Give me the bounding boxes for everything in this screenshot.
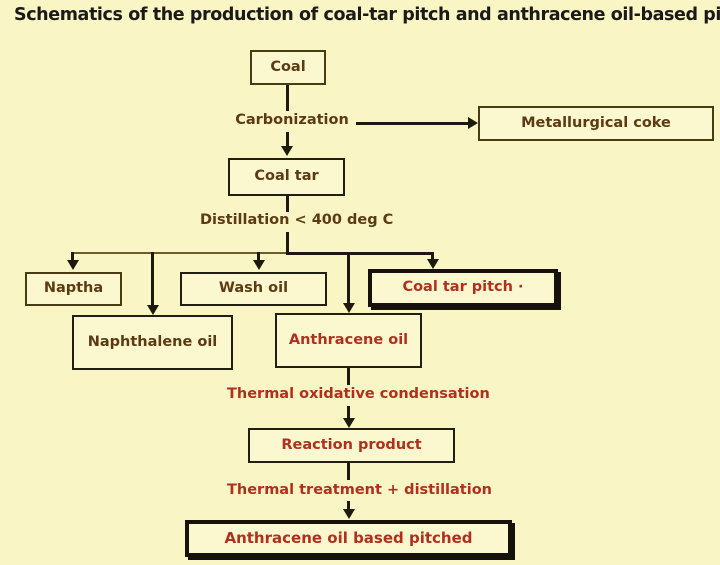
node-coal-tar-pitch-label: Coal tar pitch ·	[402, 280, 523, 296]
node-coal-tar-pitch: Coal tar pitch ·	[368, 269, 558, 307]
connector-distillation-to-bus	[286, 232, 289, 254]
node-naptha-label: Naptha	[44, 281, 103, 297]
connector-reaction-product-to-thermal-treatment	[347, 463, 350, 480]
arrowhead-to-coal-tar	[281, 146, 293, 156]
arrowhead-to-metallurgical-coke	[468, 117, 478, 129]
distribution-bus-right	[286, 252, 434, 255]
page-title: Schematics of the production of coal-tar…	[14, 5, 720, 25]
arrowhead-to-final-product	[343, 509, 355, 519]
connector-coal-to-carbonization	[286, 85, 289, 111]
branch-naphthalene-oil	[151, 252, 154, 308]
arrowhead-to-anthracene-oil	[343, 303, 355, 313]
node-coal: Coal	[250, 50, 326, 85]
node-anthracene-oil: Anthracene oil	[275, 313, 422, 368]
step-thermal-treatment-distillation-label: Thermal treatment + distillation	[227, 482, 492, 498]
node-reaction-product-label: Reaction product	[281, 438, 421, 454]
step-thermal-treatment-distillation: Thermal treatment + distillation	[227, 482, 467, 498]
connector-carbonization-to-coke	[356, 122, 468, 125]
node-wash-oil-label: Wash oil	[219, 281, 288, 297]
node-coal-tar: Coal tar	[228, 158, 345, 196]
node-coal-tar-label: Coal tar	[254, 169, 318, 185]
node-anthracene-oil-based-pitched: Anthracene oil based pitched	[185, 520, 512, 557]
node-reaction-product: Reaction product	[248, 428, 455, 463]
node-naphthalene-oil: Naphthalene oil	[72, 315, 233, 370]
node-coal-label: Coal	[270, 60, 305, 76]
node-anthracene-oil-label: Anthracene oil	[289, 333, 408, 349]
connector-coaltar-to-distillation	[286, 196, 289, 212]
branch-anthracene-oil	[347, 252, 350, 308]
node-naptha: Naptha	[25, 272, 122, 306]
step-distillation: Distillation < 400 deg C	[200, 212, 390, 228]
arrowhead-to-coal-tar-pitch	[427, 259, 439, 269]
node-metallurgical-coke: Metallurgical coke	[478, 106, 714, 141]
arrowhead-to-naphthalene-oil	[147, 305, 159, 315]
step-carbonization: Carbonization	[232, 112, 352, 128]
arrowhead-to-naptha	[67, 260, 79, 270]
node-metallurgical-coke-label: Metallurgical coke	[521, 116, 671, 132]
connector-anthraceneoil-to-thermal-oxidative	[347, 368, 350, 385]
diagram-canvas: Schematics of the production of coal-tar…	[0, 0, 720, 565]
node-naphthalene-oil-label: Naphthalene oil	[88, 335, 218, 351]
node-wash-oil: Wash oil	[180, 272, 327, 306]
step-carbonization-label: Carbonization	[235, 112, 349, 128]
node-anthracene-oil-based-pitched-label: Anthracene oil based pitched	[224, 530, 472, 547]
step-thermal-oxidative-condensation-label: Thermal oxidative condensation	[227, 386, 490, 402]
arrowhead-to-wash-oil	[253, 260, 265, 270]
step-distillation-label: Distillation < 400 deg C	[200, 212, 393, 228]
distribution-bus-left	[72, 252, 286, 254]
arrowhead-to-reaction-product	[343, 418, 355, 428]
step-thermal-oxidative-condensation: Thermal oxidative condensation	[227, 386, 467, 402]
